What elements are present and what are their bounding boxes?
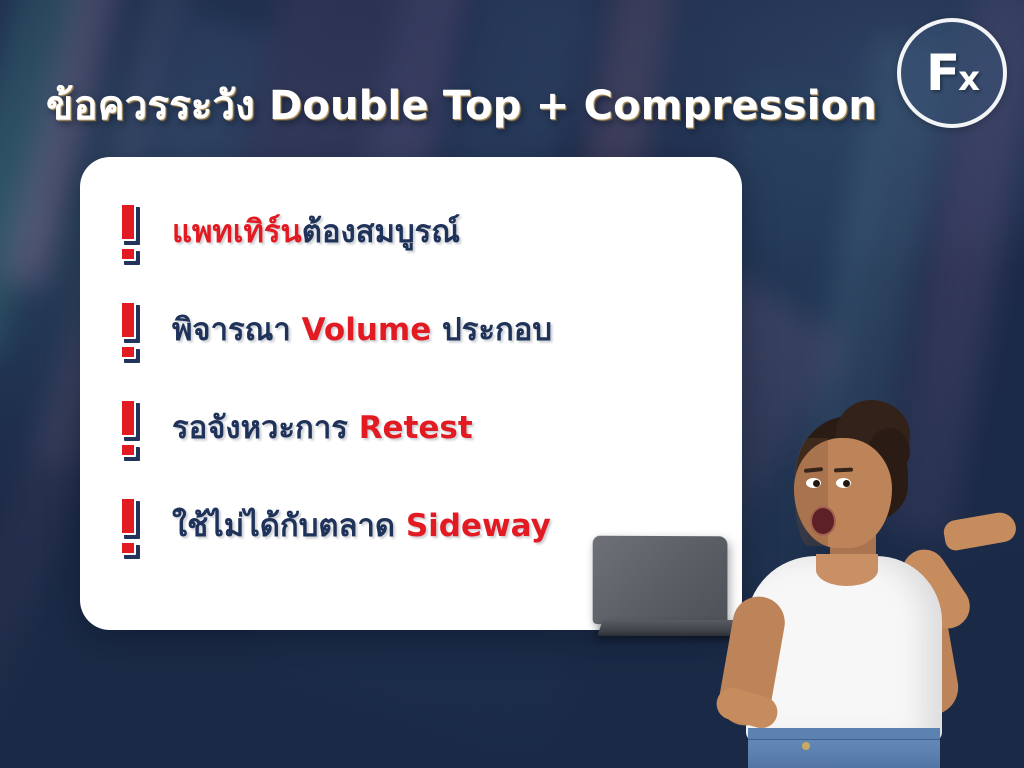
person-pupil-left: [813, 480, 820, 487]
person-right-hand: [942, 510, 1018, 552]
logo-monogram: Fx: [926, 48, 978, 98]
logo-letter-f: F: [926, 44, 958, 102]
list-item-part: Retest: [359, 410, 473, 446]
exclamation-mark-icon: [114, 203, 148, 261]
person-collar: [816, 554, 878, 586]
list-item-part: Sideway: [406, 508, 551, 544]
laptop-lid: [593, 536, 728, 633]
list-item-part: รอจังหวะการ: [172, 410, 359, 446]
exclamation-mark-icon: [114, 399, 148, 457]
list-item: พิจารณา Volume ประกอบ: [110, 281, 722, 379]
person-jeans-waistband: [748, 728, 940, 740]
list-item-part: พิจารณา: [172, 312, 302, 348]
page-title: ข้อควรระวัง Double Top + Compression: [46, 82, 877, 130]
list-item-part: ต้องสมบูรณ์: [302, 214, 460, 250]
list-item-part: แพทเทิร์น: [172, 214, 302, 250]
list-item-part: ใช้ไม่ได้กับตลาด: [172, 508, 406, 544]
list-item-label: แพทเทิร์นต้องสมบูรณ์: [172, 213, 460, 252]
list-item: แพทเทิร์นต้องสมบูรณ์: [110, 183, 722, 281]
person-mouth: [810, 506, 836, 536]
list-item-label: พิจารณา Volume ประกอบ: [172, 311, 552, 350]
list-item: รอจังหวะการ Retest: [110, 379, 722, 477]
list-item-label: รอจังหวะการ Retest: [172, 409, 473, 448]
fx-logo-icon: Fx: [897, 18, 1007, 128]
logo-letter-x: x: [958, 59, 978, 99]
exclamation-mark-icon: [114, 301, 148, 359]
person-photo: [718, 398, 1024, 768]
list-item-part: ประกอบ: [431, 312, 552, 348]
list-item-label: ใช้ไม่ได้กับตลาด Sideway: [172, 507, 551, 546]
list-item-part: Volume: [302, 312, 432, 348]
warning-list: แพทเทิร์นต้องสมบูรณ์ พิจารณา Volume ประก…: [110, 183, 722, 575]
person-jeans-button: [802, 742, 810, 750]
exclamation-mark-icon: [114, 497, 148, 555]
person-pupil-right: [843, 480, 850, 487]
